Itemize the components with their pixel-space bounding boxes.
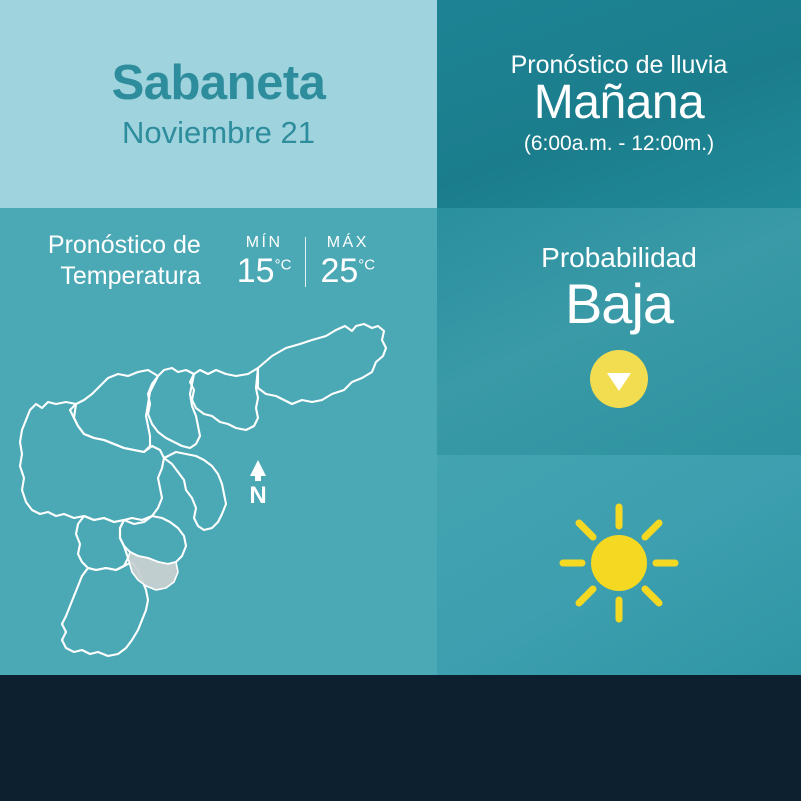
map-region-bello	[70, 370, 158, 452]
max-caption: MÁX	[320, 233, 375, 252]
city-header-panel: Sabaneta Noviembre 21	[0, 0, 437, 208]
probability-panel: Probabilidad Baja	[437, 208, 801, 455]
weather-infographic: Sabaneta Noviembre 21 Pronóstico de lluv…	[0, 0, 801, 801]
probability-label: Probabilidad	[541, 242, 697, 274]
max-unit: °C	[358, 256, 375, 273]
rain-forecast-panel: Pronóstico de lluvia Mañana (6:00a.m. - …	[437, 0, 801, 208]
max-temperature: MÁX 25°C	[306, 233, 389, 289]
rain-forecast-period: Mañana	[534, 78, 704, 128]
map-region-barbosa	[258, 324, 386, 404]
footer: SIATA Con el apoyo de: epm® ISAGEN Un pr…	[0, 675, 801, 801]
sun-icon	[553, 497, 685, 634]
min-max-group: MÍN 15°C MÁX 25°C	[223, 233, 389, 289]
temperature-map-panel: Pronóstico de Temperatura MÍN 15°C MÁX 2…	[0, 208, 437, 675]
min-value: 15	[237, 252, 275, 290]
map-region-girardota	[190, 368, 258, 430]
min-unit: °C	[275, 256, 292, 273]
temperature-label-line2: Temperatura	[48, 261, 201, 292]
temperature-row: Pronóstico de Temperatura MÍN 15°C MÁX 2…	[0, 230, 437, 293]
min-caption: MÍN	[237, 233, 292, 252]
probability-value: Baja	[565, 276, 673, 332]
map-region-sabaneta-highlight	[128, 552, 178, 590]
north-arrow-label: N	[249, 482, 266, 509]
down-triangle-icon	[590, 350, 648, 413]
temperature-label: Pronóstico de Temperatura	[48, 230, 201, 293]
max-value: 25	[320, 252, 358, 290]
map-region-medellin	[20, 402, 164, 524]
weather-icon-panel	[437, 455, 801, 675]
min-value-group: 15°C	[237, 254, 292, 290]
rain-forecast-hours: (6:00a.m. - 12:00m.)	[524, 131, 714, 156]
map-region-la-estrella	[76, 516, 128, 570]
page-title: Sabaneta	[112, 58, 326, 109]
forecast-date: Noviembre 21	[122, 116, 315, 150]
valle-de-aburra-map: N	[0, 304, 437, 674]
min-temperature: MÍN 15°C	[223, 233, 306, 289]
temperature-label-line1: Pronóstico de	[48, 230, 201, 261]
north-arrow-icon	[250, 460, 266, 481]
map-region-envigado	[164, 452, 226, 530]
max-value-group: 25°C	[320, 254, 375, 290]
